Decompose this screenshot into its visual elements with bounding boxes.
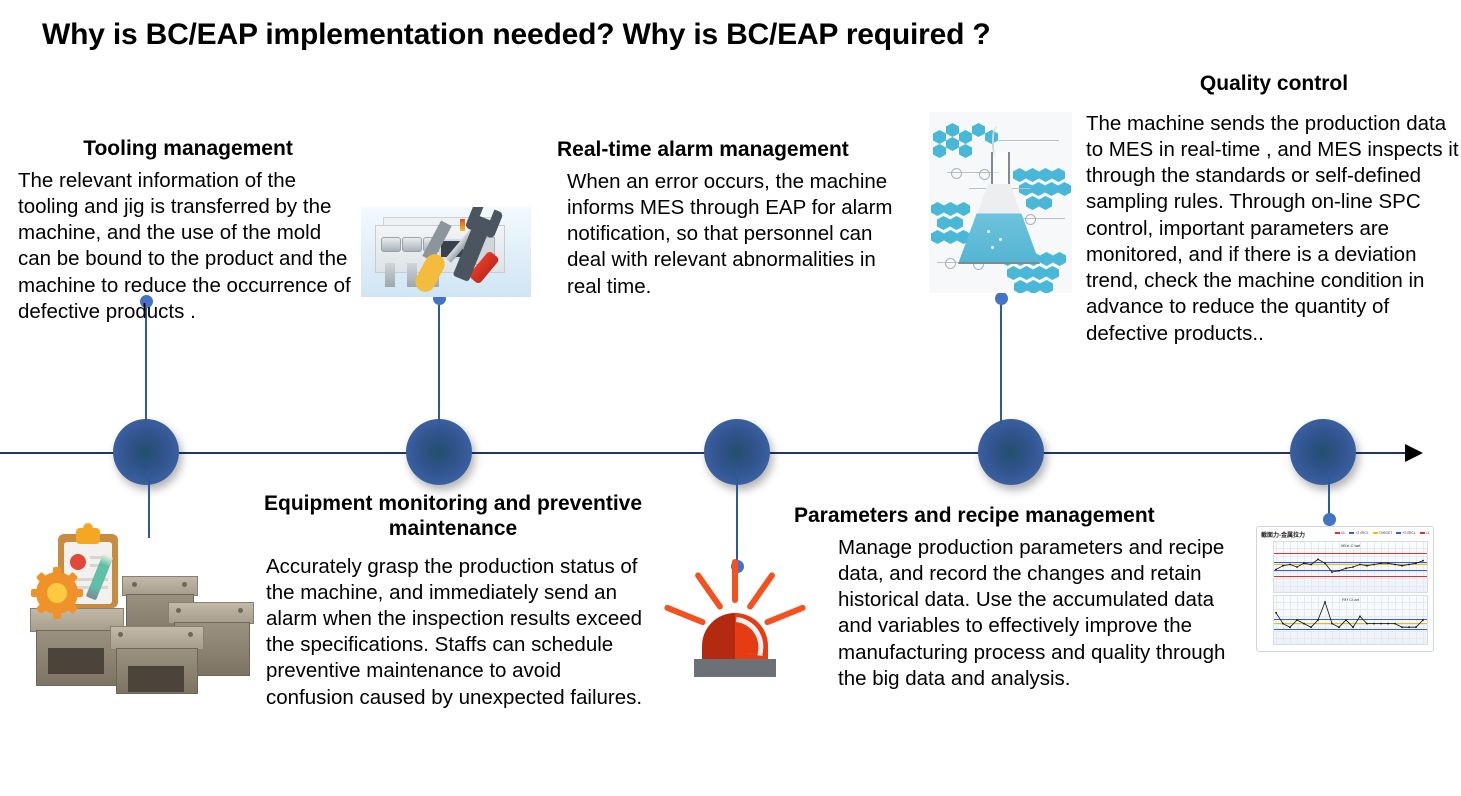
alarm-ray-right-inner — [746, 571, 776, 610]
block-alarm: Real-time alarm management When an error… — [557, 138, 902, 300]
spc-series-line — [1274, 542, 1427, 592]
spc-chart-title: 截面力-金属拉力 — [1261, 530, 1305, 539]
block-tooling: Tooling management The relevant informat… — [18, 137, 358, 325]
block-recipe-body: Manage production parameters and recipe … — [794, 535, 1242, 692]
alarm-highlight-shape — [732, 617, 768, 656]
alarm-base-shape — [694, 659, 776, 677]
block-recipe-heading: Parameters and recipe management — [794, 504, 1242, 529]
block-equipment-body: Accurately grasp the production status o… — [258, 554, 648, 711]
spc-legend-label-3: +2.0RCL — [1402, 531, 1415, 535]
block-alarm-heading: Real-time alarm management — [557, 138, 902, 163]
connector-stem-equipment-up — [438, 297, 440, 423]
spc-control-chart-image: 截面力-金属拉力 UL +2.0RCL TARGET +2.0RCL LL CP… — [1256, 526, 1434, 652]
slide-canvas: Why is BC/EAP implementation needed? Why… — [0, 0, 1461, 796]
clipboard-clasp-ring — [83, 523, 93, 533]
block-equipment-heading: Equipment monitoring and preventive main… — [258, 492, 648, 542]
block-tooling-heading: Tooling management — [18, 137, 358, 162]
flask-bubble-1 — [987, 230, 990, 233]
flask-bubble-2 — [999, 238, 1002, 241]
molecule-ring-4 — [945, 258, 956, 269]
clipboard-gauge-icon — [70, 554, 86, 570]
alarm-ray-center — [732, 559, 738, 603]
connector-stem-quality — [1000, 298, 1002, 424]
block-quality-body: The machine sends the production data to… — [1086, 111, 1461, 347]
molecule-ring-2 — [979, 169, 990, 180]
connector-dot-quality — [995, 292, 1008, 305]
page-title: Why is BC/EAP implementation needed? Why… — [42, 18, 991, 52]
block-equipment: Equipment monitoring and preventive main… — [258, 492, 648, 711]
mold-2-cavity — [128, 666, 184, 692]
connector-dot-spc — [1323, 513, 1336, 526]
spc-legend-label-0: UL — [1341, 531, 1345, 535]
mold-4-plate — [168, 602, 254, 624]
spc-series-line — [1274, 596, 1427, 644]
timeline-node-quality[interactable] — [1290, 419, 1356, 485]
spc-panel-xbar: XBar Chart — [1273, 541, 1428, 593]
spc-legend-label-4: LL — [1426, 531, 1430, 535]
spc-legend-label-1: +2.0RCL — [1355, 531, 1368, 535]
machine-leg-1 — [385, 263, 395, 287]
molecule-ring-1 — [951, 168, 962, 179]
block-quality-heading: Quality control — [1086, 72, 1461, 97]
mold-1-cavity — [48, 648, 104, 674]
chemistry-flask-image — [929, 112, 1072, 293]
metal-molds-image — [22, 520, 258, 692]
machine-drum-2 — [402, 237, 422, 252]
molecule-line-1 — [999, 140, 1059, 141]
alarm-beacon-icon — [676, 553, 794, 683]
spc-panel-rm: RM Chart — [1273, 595, 1428, 645]
spc-legend-label-2: TARGET — [1379, 531, 1393, 535]
timeline-arrow-icon — [1405, 444, 1423, 462]
machine-status-light — [460, 219, 465, 231]
block-recipe: Parameters and recipe management Manage … — [794, 504, 1242, 692]
alarm-ray-left-outer — [663, 604, 706, 626]
timeline-node-equipment[interactable] — [406, 419, 472, 485]
timeline-node-tooling[interactable] — [113, 419, 179, 485]
flask-bubble-3 — [991, 246, 994, 249]
alarm-ray-left-inner — [694, 571, 724, 610]
block-quality: Quality control The machine sends the pr… — [1086, 72, 1461, 347]
gear-icon — [36, 572, 78, 614]
molecule-ring-3 — [1025, 214, 1036, 225]
machine-with-tools-image — [361, 207, 531, 297]
block-alarm-body: When an error occurs, the machine inform… — [557, 169, 902, 300]
block-tooling-body: The relevant information of the tooling … — [18, 168, 358, 325]
timeline-node-recipe[interactable] — [978, 419, 1044, 485]
spc-chart-legend: UL +2.0RCL TARGET +2.0RCL LL CP CLMR — [1335, 531, 1434, 535]
machine-drum-1 — [381, 237, 401, 252]
mold-2-plate — [110, 626, 204, 650]
